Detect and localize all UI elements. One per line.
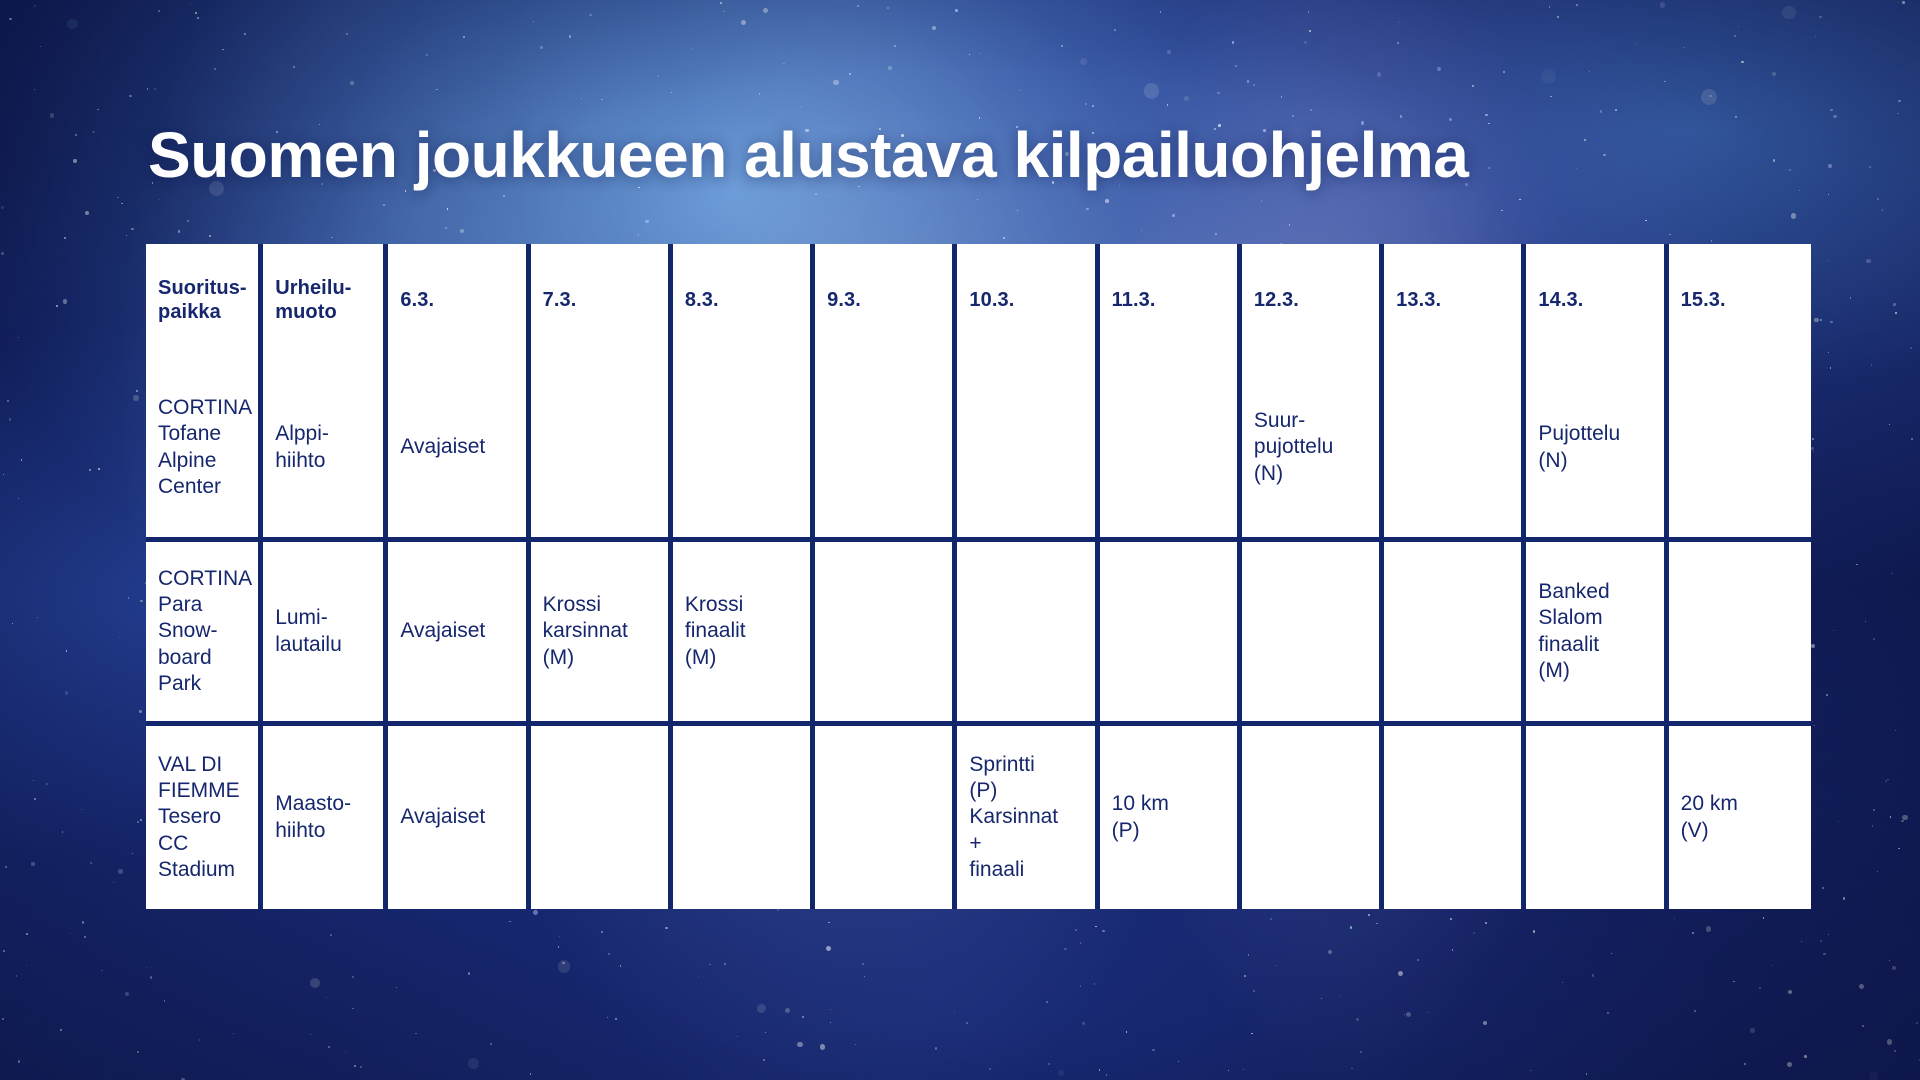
date-label: 9.3.	[827, 289, 940, 313]
sport-cell: Lumi- lautailu	[263, 542, 388, 726]
event-cell	[1100, 358, 1242, 542]
event-cell: Sprintti (P) Karsinnat + finaali	[957, 726, 1099, 909]
table-row: CORTINA Para Snow- board ParkLumi- lauta…	[146, 542, 1811, 726]
event-cell	[815, 542, 957, 726]
event-cell: Pujottelu (N)	[1526, 358, 1668, 542]
cell-text: Suur- pujottelu (N)	[1254, 408, 1367, 487]
event-cell	[531, 358, 673, 542]
event-cell: Krossi karsinnat (M)	[531, 542, 673, 726]
cell-text: Avajaiset	[400, 804, 513, 830]
column-header-date-153: 15.3.	[1669, 244, 1811, 358]
date-label: 7.3.	[543, 289, 656, 313]
column-header-date-73: 7.3.	[531, 244, 673, 358]
event-cell	[1100, 542, 1242, 726]
column-header-venue: Suoritus- paikka	[146, 244, 263, 358]
event-cell: Suur- pujottelu (N)	[1242, 358, 1384, 542]
sport-cell: Maasto- hiihto	[263, 726, 388, 909]
column-header-date-103: 10.3.	[957, 244, 1099, 358]
competition-schedule-table: Suoritus- paikka Urheilu- muoto 6.3.7.3.…	[146, 244, 1811, 909]
event-cell: Krossi finaalit (M)	[673, 542, 815, 726]
venue-cell: VAL DI FIEMME Tesero CC Stadium	[146, 726, 263, 909]
event-cell	[815, 358, 957, 542]
date-label: 10.3.	[969, 289, 1082, 313]
cell-text: Lumi- lautailu	[275, 605, 371, 658]
date-label: 14.3.	[1538, 289, 1651, 313]
event-cell	[957, 358, 1099, 542]
event-cell: Avajaiset	[388, 358, 530, 542]
date-label: 15.3.	[1681, 289, 1799, 313]
cell-text: Maasto- hiihto	[275, 791, 371, 844]
cell-text: 10 km (P)	[1112, 791, 1225, 844]
column-header-date-143: 14.3.	[1526, 244, 1668, 358]
cell-text: Krossi finaalit (M)	[685, 592, 798, 671]
event-cell: 20 km (V)	[1669, 726, 1811, 909]
event-cell	[1242, 542, 1384, 726]
event-cell	[673, 358, 815, 542]
venue-cell: CORTINA Tofane Alpine Center	[146, 358, 263, 542]
cell-text: Sprintti (P) Karsinnat + finaali	[969, 752, 1082, 883]
event-cell	[1242, 726, 1384, 909]
table-body: CORTINA Tofane Alpine CenterAlppi- hiiht…	[146, 358, 1811, 909]
table-header-row: Suoritus- paikka Urheilu- muoto 6.3.7.3.…	[146, 244, 1811, 358]
page-title: Suomen joukkueen alustava kilpailuohjelm…	[148, 118, 1468, 192]
cell-text: Krossi karsinnat (M)	[543, 592, 656, 671]
event-cell: Avajaiset	[388, 542, 530, 726]
date-label: 6.3.	[400, 289, 513, 313]
cell-text: CORTINA Para Snow- board Park	[158, 566, 246, 697]
date-label: 8.3.	[685, 289, 798, 313]
sport-cell: Alppi- hiihto	[263, 358, 388, 542]
event-cell	[1669, 542, 1811, 726]
column-header-date-83: 8.3.	[673, 244, 815, 358]
column-header-date-63: 6.3.	[388, 244, 530, 358]
cell-text: 20 km (V)	[1681, 791, 1799, 844]
venue-cell: CORTINA Para Snow- board Park	[146, 542, 263, 726]
table-row: CORTINA Tofane Alpine CenterAlppi- hiiht…	[146, 358, 1811, 542]
column-header-sport: Urheilu- muoto	[263, 244, 388, 358]
cell-text: CORTINA Tofane Alpine Center	[158, 395, 246, 500]
event-cell	[1384, 726, 1526, 909]
column-header-date-113: 11.3.	[1100, 244, 1242, 358]
date-label: 12.3.	[1254, 289, 1367, 313]
event-cell	[1669, 358, 1811, 542]
event-cell	[815, 726, 957, 909]
event-cell	[1384, 358, 1526, 542]
event-cell	[531, 726, 673, 909]
event-cell	[957, 542, 1099, 726]
event-cell: Banked Slalom finaalit (M)	[1526, 542, 1668, 726]
cell-text: VAL DI FIEMME Tesero CC Stadium	[158, 752, 246, 883]
event-cell: Avajaiset	[388, 726, 530, 909]
date-label: 13.3.	[1396, 289, 1509, 313]
date-label: 11.3.	[1112, 289, 1225, 313]
event-cell	[673, 726, 815, 909]
cell-text: Pujottelu (N)	[1538, 421, 1651, 474]
cell-text: Banked Slalom finaalit (M)	[1538, 579, 1651, 684]
event-cell: 10 km (P)	[1100, 726, 1242, 909]
column-header-date-93: 9.3.	[815, 244, 957, 358]
column-header-date-133: 13.3.	[1384, 244, 1526, 358]
cell-text: Avajaiset	[400, 618, 513, 644]
column-header-date-123: 12.3.	[1242, 244, 1384, 358]
table-header: Suoritus- paikka Urheilu- muoto 6.3.7.3.…	[146, 244, 1811, 358]
event-cell	[1526, 726, 1668, 909]
event-cell	[1384, 542, 1526, 726]
cell-text: Alppi- hiihto	[275, 421, 371, 474]
cell-text: Avajaiset	[400, 434, 513, 460]
table-row: VAL DI FIEMME Tesero CC StadiumMaasto- h…	[146, 726, 1811, 909]
